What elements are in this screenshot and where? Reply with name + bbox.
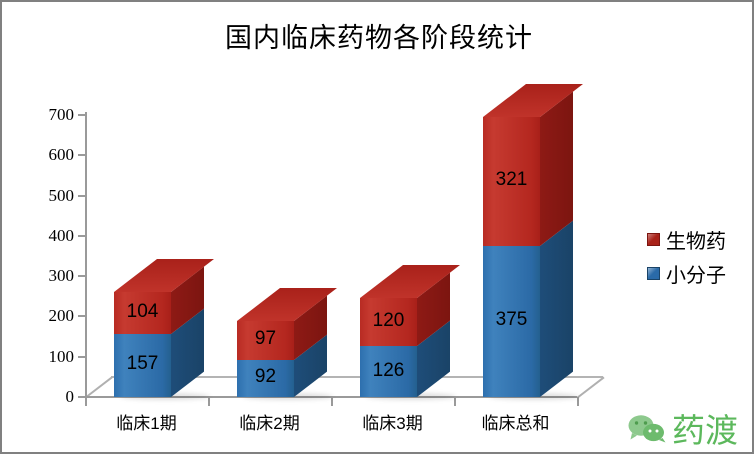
x-axis-category-label: 临床2期	[210, 409, 330, 434]
wechat-icon	[626, 413, 668, 443]
y-axis-label-text: 600	[28, 146, 74, 163]
chart-legend: 生物药小分子	[647, 222, 747, 290]
legend-swatch	[647, 267, 660, 280]
legend-item[interactable]: 小分子	[647, 256, 747, 290]
bar-segment[interactable]: 375	[483, 246, 540, 397]
bar-segment-side	[540, 221, 573, 397]
watermark: 药渡	[626, 404, 738, 452]
x-axis-tick	[208, 397, 210, 406]
y-axis-tick	[78, 114, 86, 116]
legend-label: 小分子	[666, 259, 726, 288]
bar-value-label: 120	[360, 310, 417, 332]
x-axis-category-label: 临床1期	[87, 409, 207, 434]
floor-right-edge	[576, 377, 604, 399]
y-axis-tick	[78, 275, 86, 277]
y-axis-label-text: 400	[28, 227, 74, 244]
bar-segment[interactable]: 120	[360, 298, 417, 346]
bar-segment[interactable]: 92	[237, 360, 294, 397]
y-axis-tick	[78, 235, 86, 237]
y-axis-tick	[78, 356, 86, 358]
legend-label: 生物药	[666, 225, 726, 254]
bar-segment[interactable]: 126	[360, 346, 417, 397]
bar-value-label: 97	[237, 328, 294, 350]
y-axis-label-text: 200	[28, 307, 74, 324]
chart-image: 国内临床药物各阶段统计 1571049297126120375321 01002…	[0, 0, 754, 454]
bar-segment[interactable]: 157	[114, 334, 171, 397]
bar-segment-side	[540, 91, 573, 246]
y-axis-tick	[78, 315, 86, 317]
y-axis-label-text: 500	[28, 187, 74, 204]
x-axis-tick	[331, 397, 333, 406]
y-axis-tick	[78, 195, 86, 197]
legend-swatch	[647, 233, 660, 246]
bar-value-label: 104	[114, 301, 171, 323]
bar-segment[interactable]: 104	[114, 292, 171, 334]
x-axis-category-label: 临床总和	[456, 409, 576, 434]
bar-value-label: 92	[237, 366, 294, 388]
bar-segment[interactable]: 97	[237, 321, 294, 360]
legend-item[interactable]: 生物药	[647, 222, 747, 256]
x-axis-tick	[85, 397, 87, 406]
y-axis-tick	[78, 154, 86, 156]
x-axis-category-label: 临床3期	[333, 409, 453, 434]
y-axis-label-text: 100	[28, 348, 74, 365]
bar-value-label: 157	[114, 353, 171, 375]
y-axis-label-text: 0	[28, 388, 74, 405]
watermark-text: 药渡	[672, 404, 738, 452]
bar-segment[interactable]: 321	[483, 117, 540, 246]
bar-value-label: 375	[483, 309, 540, 331]
x-axis-tick	[454, 397, 456, 406]
bar-value-label: 126	[360, 360, 417, 382]
plot-area: 1571049297126120375321 01002003004005006…	[2, 2, 754, 454]
bar-value-label: 321	[483, 169, 540, 191]
y-axis-label-text: 300	[28, 267, 74, 284]
x-axis-tick	[577, 397, 579, 406]
y-axis-label-text: 700	[28, 106, 74, 123]
